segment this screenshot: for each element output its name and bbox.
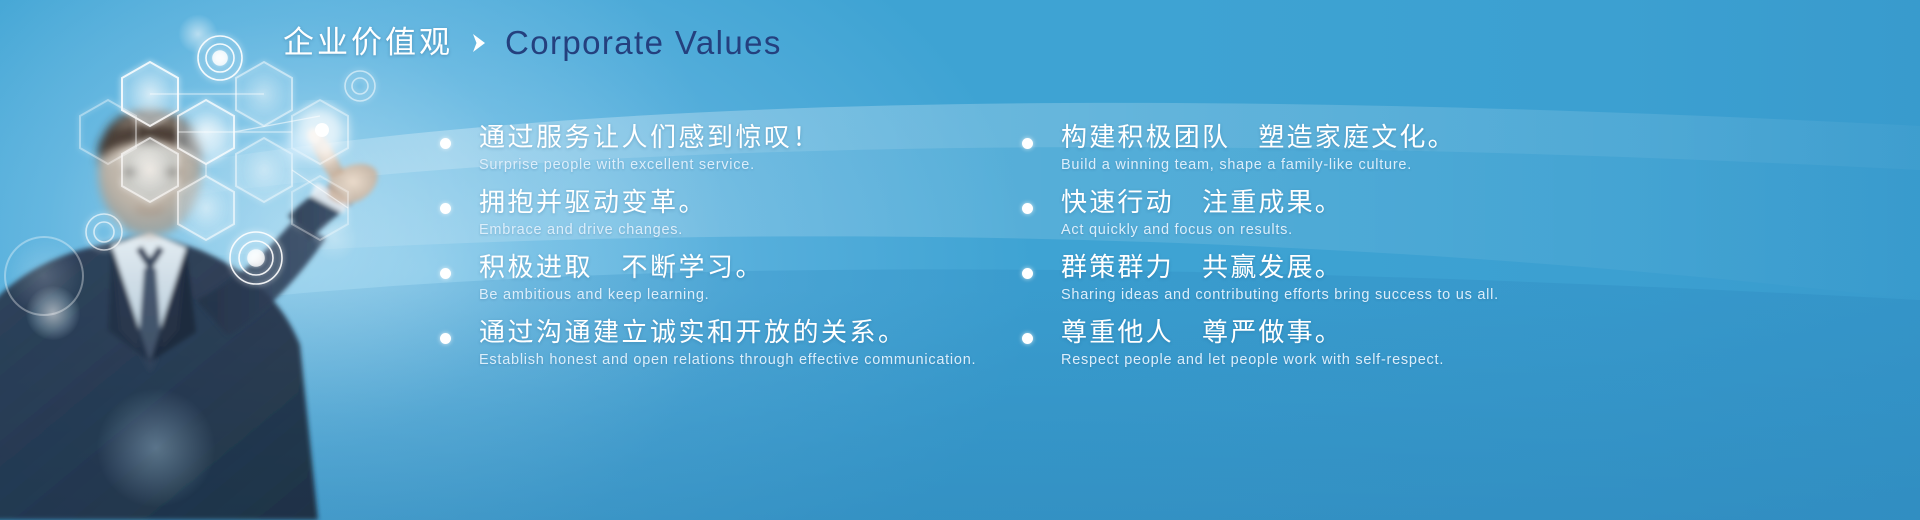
value-text-en: Respect people and let people work with … [1061, 351, 1882, 371]
value-text-cn: 通过沟通建立诚实和开放的关系。 [479, 317, 1040, 349]
banner-content: 企业价值观 Corporate Values 通过服务让人们感到惊叹！ Surp… [0, 0, 1920, 520]
bullet-icon [1022, 268, 1033, 279]
bullet-icon [1022, 333, 1033, 344]
banner-header: 企业价值观 Corporate Values [283, 26, 782, 59]
bullet-icon [440, 268, 451, 279]
value-text-cn: 拥抱并驱动变革。 [479, 187, 1040, 219]
value-item: 尊重他人 尊严做事。 Respect people and let people… [1022, 317, 1882, 382]
value-text-cn: 构建积极团队 塑造家庭文化。 [1061, 122, 1882, 154]
value-item: 构建积极团队 塑造家庭文化。 Build a winning team, sha… [1022, 122, 1882, 187]
bullet-icon [440, 203, 451, 214]
value-text-cn: 尊重他人 尊严做事。 [1061, 317, 1882, 349]
value-text-cn: 通过服务让人们感到惊叹！ [479, 122, 1040, 154]
left-column: 通过服务让人们感到惊叹！ Surprise people with excell… [440, 122, 1040, 382]
value-item: 通过沟通建立诚实和开放的关系。 Establish honest and ope… [440, 317, 1040, 382]
corporate-values-banner: 企业价值观 Corporate Values 通过服务让人们感到惊叹！ Surp… [0, 0, 1920, 520]
value-text-cn: 群策群力 共赢发展。 [1061, 252, 1882, 284]
value-text-en: Sharing ideas and contributing efforts b… [1061, 286, 1882, 306]
value-text-en: Establish honest and open relations thro… [479, 351, 1040, 371]
value-text-en: Act quickly and focus on results. [1061, 221, 1882, 241]
value-item: 通过服务让人们感到惊叹！ Surprise people with excell… [440, 122, 1040, 187]
value-text-en: Surprise people with excellent service. [479, 156, 1040, 176]
value-text-cn: 积极进取 不断学习。 [479, 252, 1040, 284]
chevron-right-icon [469, 31, 489, 55]
right-column: 构建积极团队 塑造家庭文化。 Build a winning team, sha… [1022, 122, 1882, 382]
value-text-en: Embrace and drive changes. [479, 221, 1040, 241]
value-text-en: Build a winning team, shape a family-lik… [1061, 156, 1882, 176]
value-item: 积极进取 不断学习。 Be ambitious and keep learnin… [440, 252, 1040, 317]
page-title-cn: 企业价值观 [283, 27, 453, 58]
values-columns: 通过服务让人们感到惊叹！ Surprise people with excell… [0, 122, 1920, 412]
value-text-en: Be ambitious and keep learning. [479, 286, 1040, 306]
value-item: 拥抱并驱动变革。 Embrace and drive changes. [440, 187, 1040, 252]
value-text-cn: 快速行动 注重成果。 [1061, 187, 1882, 219]
page-title-en: Corporate Values [505, 26, 782, 59]
bullet-icon [1022, 203, 1033, 214]
value-item: 快速行动 注重成果。 Act quickly and focus on resu… [1022, 187, 1882, 252]
bullet-icon [440, 138, 451, 149]
value-item: 群策群力 共赢发展。 Sharing ideas and contributin… [1022, 252, 1882, 317]
bullet-icon [440, 333, 451, 344]
bullet-icon [1022, 138, 1033, 149]
